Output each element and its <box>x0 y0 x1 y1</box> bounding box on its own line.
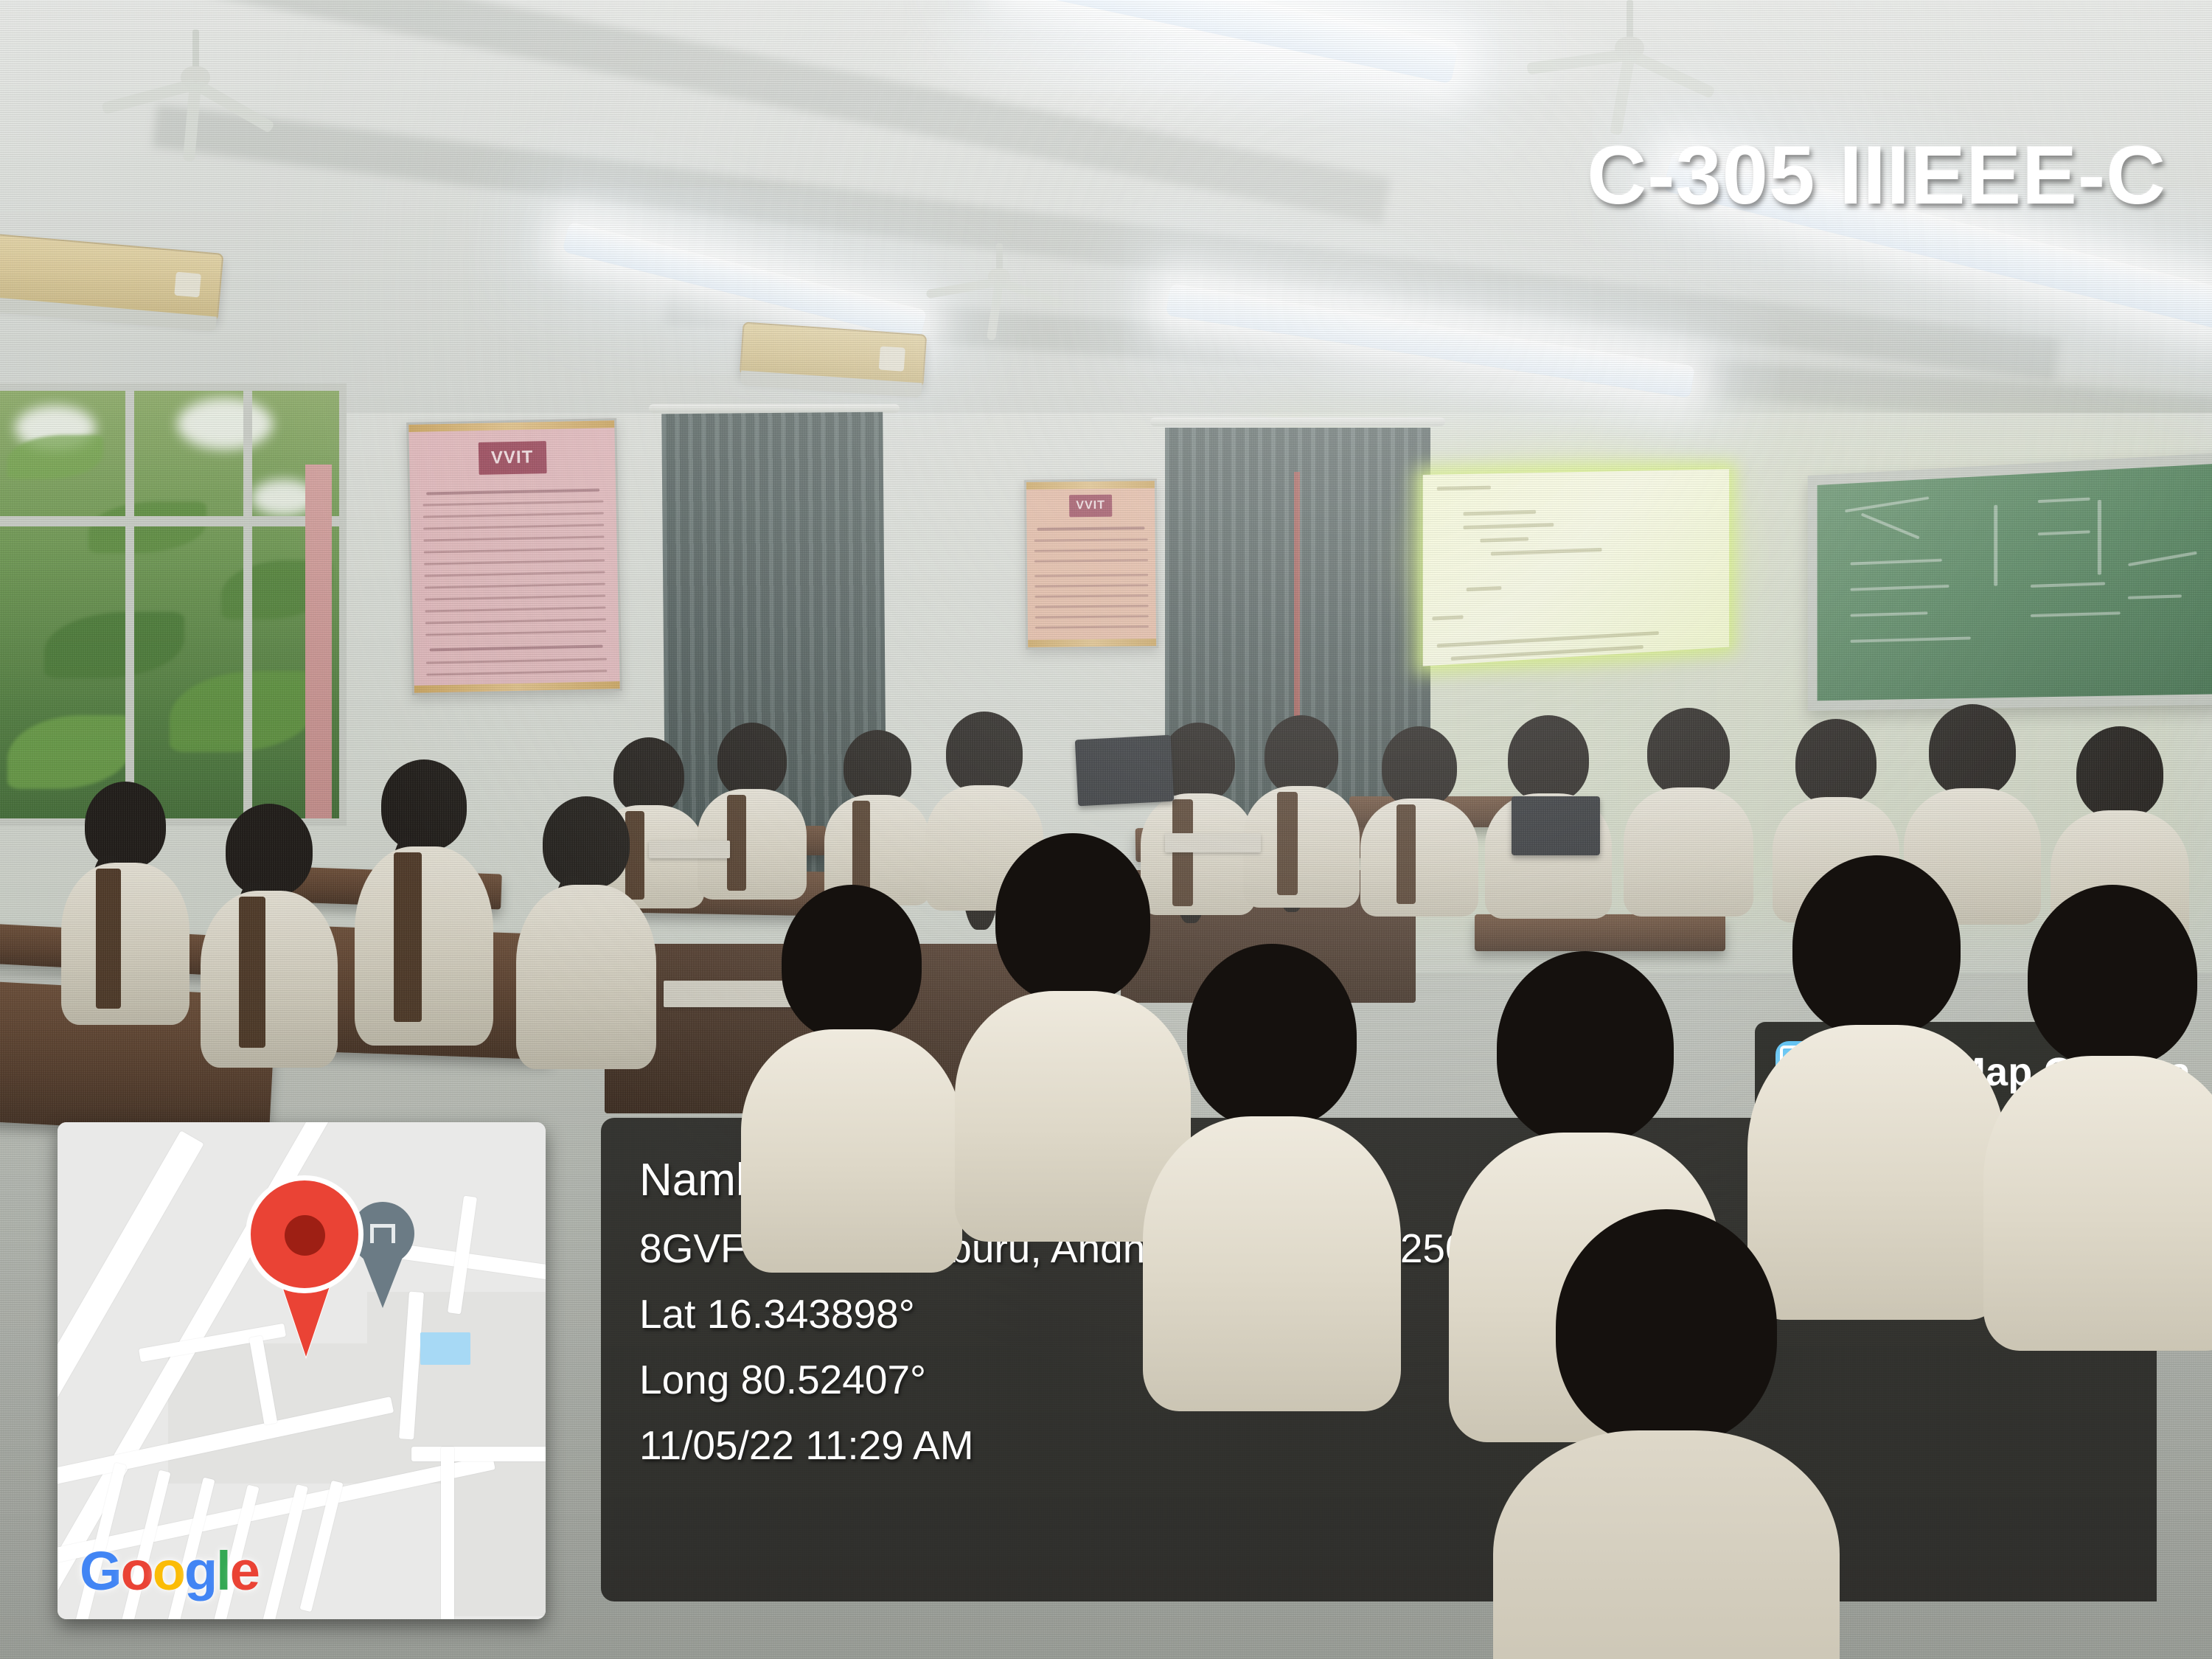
map-road <box>411 1447 546 1461</box>
desk <box>1475 914 1725 951</box>
google-logo: Google <box>80 1544 259 1599</box>
blackboard <box>1808 453 2212 711</box>
poster-institute-logo: VVIT <box>1069 495 1112 518</box>
poster-bottom-band <box>414 681 620 693</box>
poster-top-band <box>408 420 614 432</box>
fan-rod <box>192 29 199 71</box>
fan-rod <box>996 243 1003 271</box>
room-title-overlay: C-305 IIIEEE-C <box>1587 134 2166 217</box>
curtain-rod <box>1150 417 1445 426</box>
google-logo-letter: o <box>121 1540 153 1601</box>
google-map-thumbnail[interactable]: Google <box>58 1122 546 1619</box>
poster-institute-logo: VVIT <box>478 441 546 475</box>
ac-display-panel <box>879 346 905 371</box>
google-logo-letter: G <box>80 1540 121 1601</box>
screenshot-root: VVIT VVIT <box>0 0 2212 1659</box>
google-logo-letter: l <box>216 1540 230 1601</box>
fan-rod <box>1627 0 1633 41</box>
ceiling-fan <box>133 29 258 125</box>
ceiling-fan <box>1563 0 1696 103</box>
ceiling-fan <box>951 243 1047 324</box>
google-logo-letter: g <box>184 1540 216 1601</box>
map-secondary-pin-glyph <box>370 1224 395 1243</box>
poster-bottom-band <box>1028 639 1156 647</box>
map-marker-center-dot <box>285 1215 325 1256</box>
projector-screen <box>1423 469 1729 666</box>
ac-display-panel <box>174 272 201 298</box>
map-road <box>441 1447 454 1619</box>
poster-top-band <box>1026 481 1155 490</box>
capture-timestamp: 11/05/22 11:29 AM <box>639 1425 2127 1466</box>
google-logo-letter: e <box>230 1540 259 1601</box>
window-side-strip <box>305 465 332 818</box>
papers <box>649 841 730 858</box>
laptop <box>1512 796 1600 855</box>
papers <box>1165 833 1261 852</box>
notice-poster-right: VVIT <box>1024 479 1158 650</box>
map-water-block <box>420 1332 470 1365</box>
laptop <box>1075 735 1175 807</box>
google-logo-letter: o <box>153 1540 184 1601</box>
notice-poster-left: VVIT <box>406 418 622 695</box>
map-secondary-pin-tip <box>361 1253 404 1308</box>
classroom-window <box>0 383 347 826</box>
